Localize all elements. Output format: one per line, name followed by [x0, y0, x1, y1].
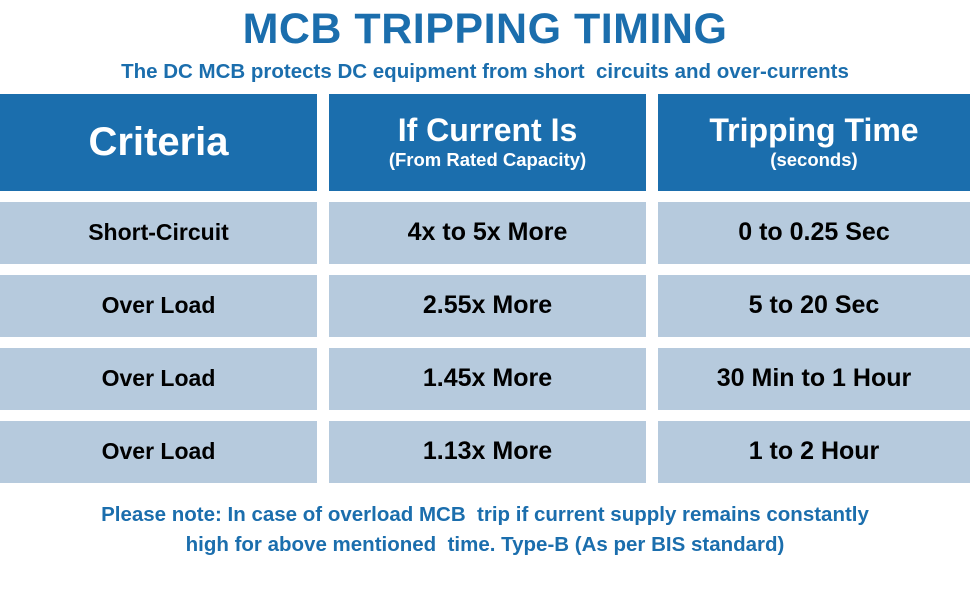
page-title: MCB TRIPPING TIMING	[0, 6, 970, 53]
page-subtitle: The DC MCB protects DC equipment from sh…	[0, 60, 970, 84]
mcb-tripping-timing-infographic: MCB TRIPPING TIMING The DC MCB protects …	[0, 0, 970, 600]
cell-criteria: Over Load	[0, 275, 317, 337]
footnote-line-1: Please note: In case of overload MCB tri…	[14, 500, 956, 530]
cell-current: 2.55x More	[329, 275, 646, 337]
cell-criteria: Short-Circuit	[0, 202, 317, 264]
cell-tripping-time: 0 to 0.25 Sec	[658, 202, 970, 264]
table-header-criteria: Criteria	[0, 94, 317, 191]
table-row: Over Load 1.13x More 1 to 2 Hour	[0, 421, 970, 483]
cell-tripping-time: 5 to 20 Sec	[658, 275, 970, 337]
table-header-row: Criteria If Current Is (From Rated Capac…	[0, 94, 970, 191]
table-header-if-current-is: If Current Is (From Rated Capacity)	[329, 94, 646, 191]
table-header-if-current-is-sublabel: (From Rated Capacity)	[389, 150, 586, 170]
table-header-tripping-time-sublabel: (seconds)	[770, 150, 857, 170]
cell-criteria: Over Load	[0, 348, 317, 410]
table-header-tripping-time-label: Tripping Time	[709, 114, 918, 148]
tripping-timing-table: Criteria If Current Is (From Rated Capac…	[0, 94, 970, 483]
table-header-tripping-time: Tripping Time (seconds)	[658, 94, 970, 191]
cell-tripping-time: 1 to 2 Hour	[658, 421, 970, 483]
table-row: Over Load 2.55x More 5 to 20 Sec	[0, 275, 970, 337]
cell-current: 1.13x More	[329, 421, 646, 483]
table-header-criteria-label: Criteria	[88, 121, 228, 163]
cell-criteria: Over Load	[0, 421, 317, 483]
title-block: MCB TRIPPING TIMING The DC MCB protects …	[0, 0, 970, 84]
cell-tripping-time: 30 Min to 1 Hour	[658, 348, 970, 410]
cell-current: 1.45x More	[329, 348, 646, 410]
cell-current: 4x to 5x More	[329, 202, 646, 264]
footnote-line-2: high for above mentioned time. Type-B (A…	[14, 530, 956, 560]
table-row: Over Load 1.45x More 30 Min to 1 Hour	[0, 348, 970, 410]
table-header-if-current-is-label: If Current Is	[398, 114, 578, 148]
table-row: Short-Circuit 4x to 5x More 0 to 0.25 Se…	[0, 202, 970, 264]
footnote: Please note: In case of overload MCB tri…	[0, 500, 970, 559]
